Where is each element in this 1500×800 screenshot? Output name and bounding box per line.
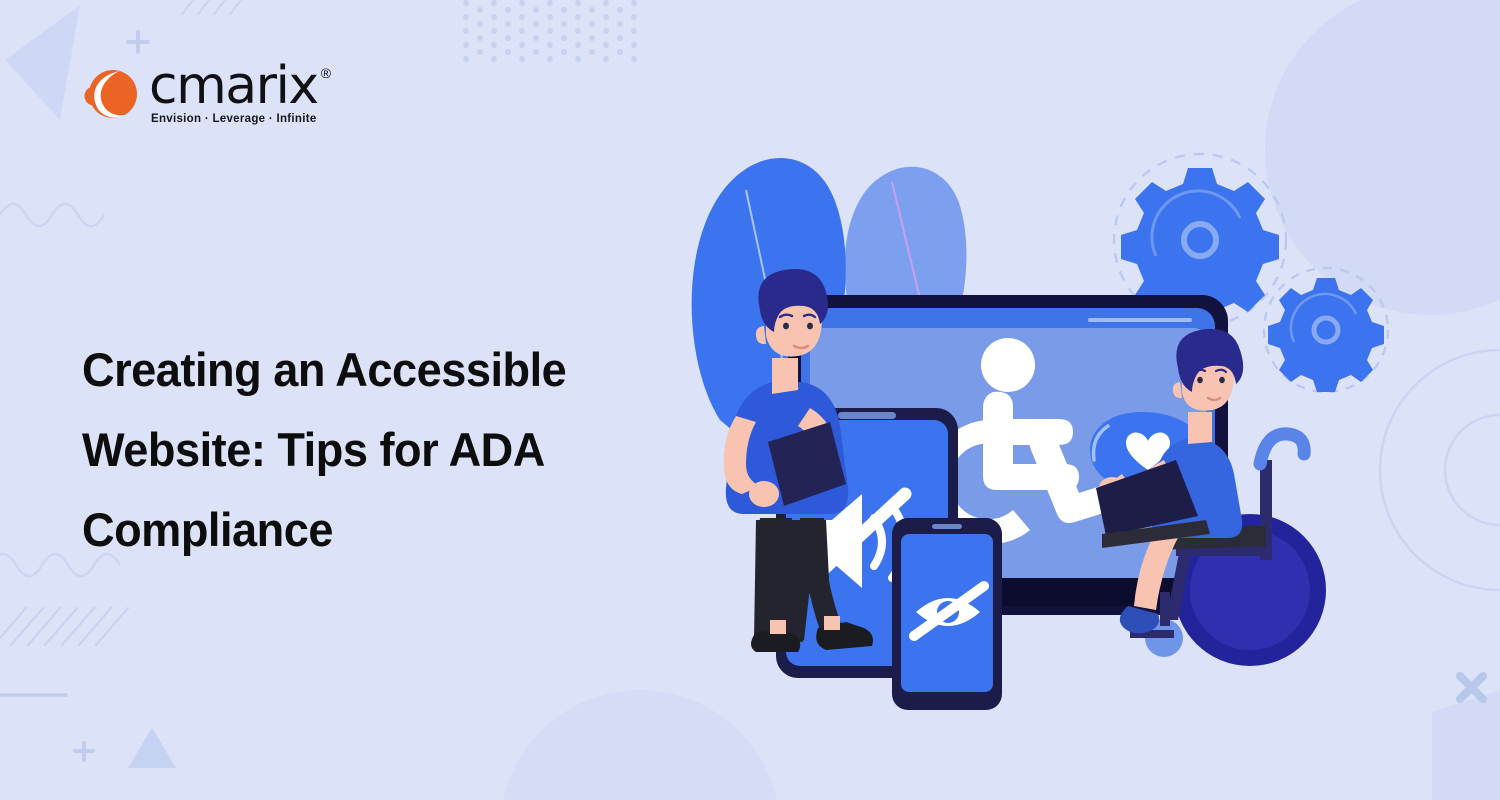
- headline-line-2: Website: Tips for ADA: [82, 423, 545, 476]
- triangle-bottom-right: [1432, 690, 1500, 800]
- gear-small: [1264, 268, 1388, 392]
- hatch-bottom-left: [0, 608, 128, 645]
- logo-tagline: Envision · Leverage · Infinite: [151, 113, 330, 125]
- registered-mark: ®: [321, 66, 330, 80]
- soft-circle-bottom-center: [500, 690, 780, 800]
- phone-speaker-slot: [932, 524, 962, 529]
- dot-grid-pattern: [463, 0, 637, 62]
- plus-bottom-left: [75, 743, 93, 760]
- triangle-top-left: [5, 5, 80, 120]
- headline-line-3: Compliance: [82, 503, 333, 556]
- wheelchair-handle: [1260, 434, 1304, 464]
- logo-wordmark-text: cmarix: [149, 62, 318, 111]
- person-hand-left: [749, 481, 779, 507]
- triangle-bottom-left: [128, 728, 176, 768]
- wave-left-top: [0, 204, 104, 226]
- plus-top-left: [128, 32, 148, 52]
- phone: [892, 518, 1002, 710]
- tablet-speaker-slot: [838, 412, 896, 419]
- hatch-top-left: [182, 0, 246, 14]
- brand-logo[interactable]: cmarix ® Envision · Leverage · Infinite: [80, 62, 330, 125]
- ring-outline-right-inner: [1445, 415, 1500, 525]
- headline-line-1: Creating an Accessible: [82, 343, 566, 396]
- page-title: Creating an Accessible Website: Tips for…: [82, 330, 658, 570]
- hero-banner: cmarix ® Envision · Leverage · Infinite …: [0, 0, 1500, 800]
- logo-wordmark: cmarix ®: [149, 62, 330, 111]
- hero-illustration: [660, 120, 1420, 700]
- x-mark-bottom-right: [1460, 676, 1483, 699]
- cmarix-logo-icon: [80, 65, 138, 123]
- person-neck: [772, 358, 798, 394]
